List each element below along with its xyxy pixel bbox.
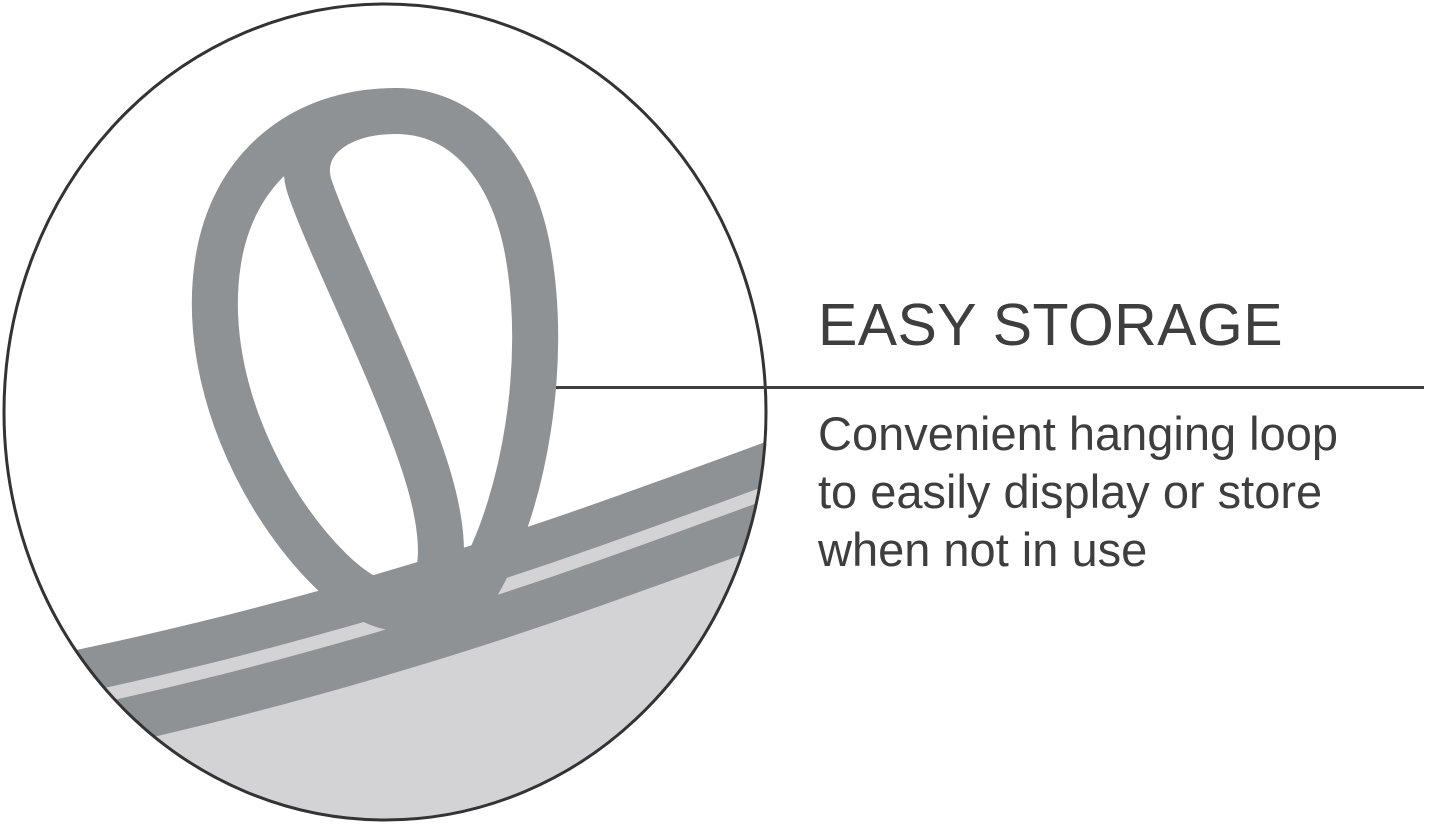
feature-description-line-3: when not in use bbox=[818, 521, 1418, 579]
feature-title: EASY STORAGE bbox=[818, 296, 1418, 377]
feature-description: Convenient hanging loop to easily displa… bbox=[818, 377, 1418, 579]
feature-description-line-2: to easily display or store bbox=[818, 463, 1418, 521]
feature-description-line-1: Convenient hanging loop bbox=[818, 405, 1418, 463]
hanging-loop-illustration bbox=[0, 0, 790, 831]
callout-text-block: EASY STORAGE Convenient hanging loop to … bbox=[818, 296, 1418, 579]
feature-callout-page: EASY STORAGE Convenient hanging loop to … bbox=[0, 0, 1429, 831]
